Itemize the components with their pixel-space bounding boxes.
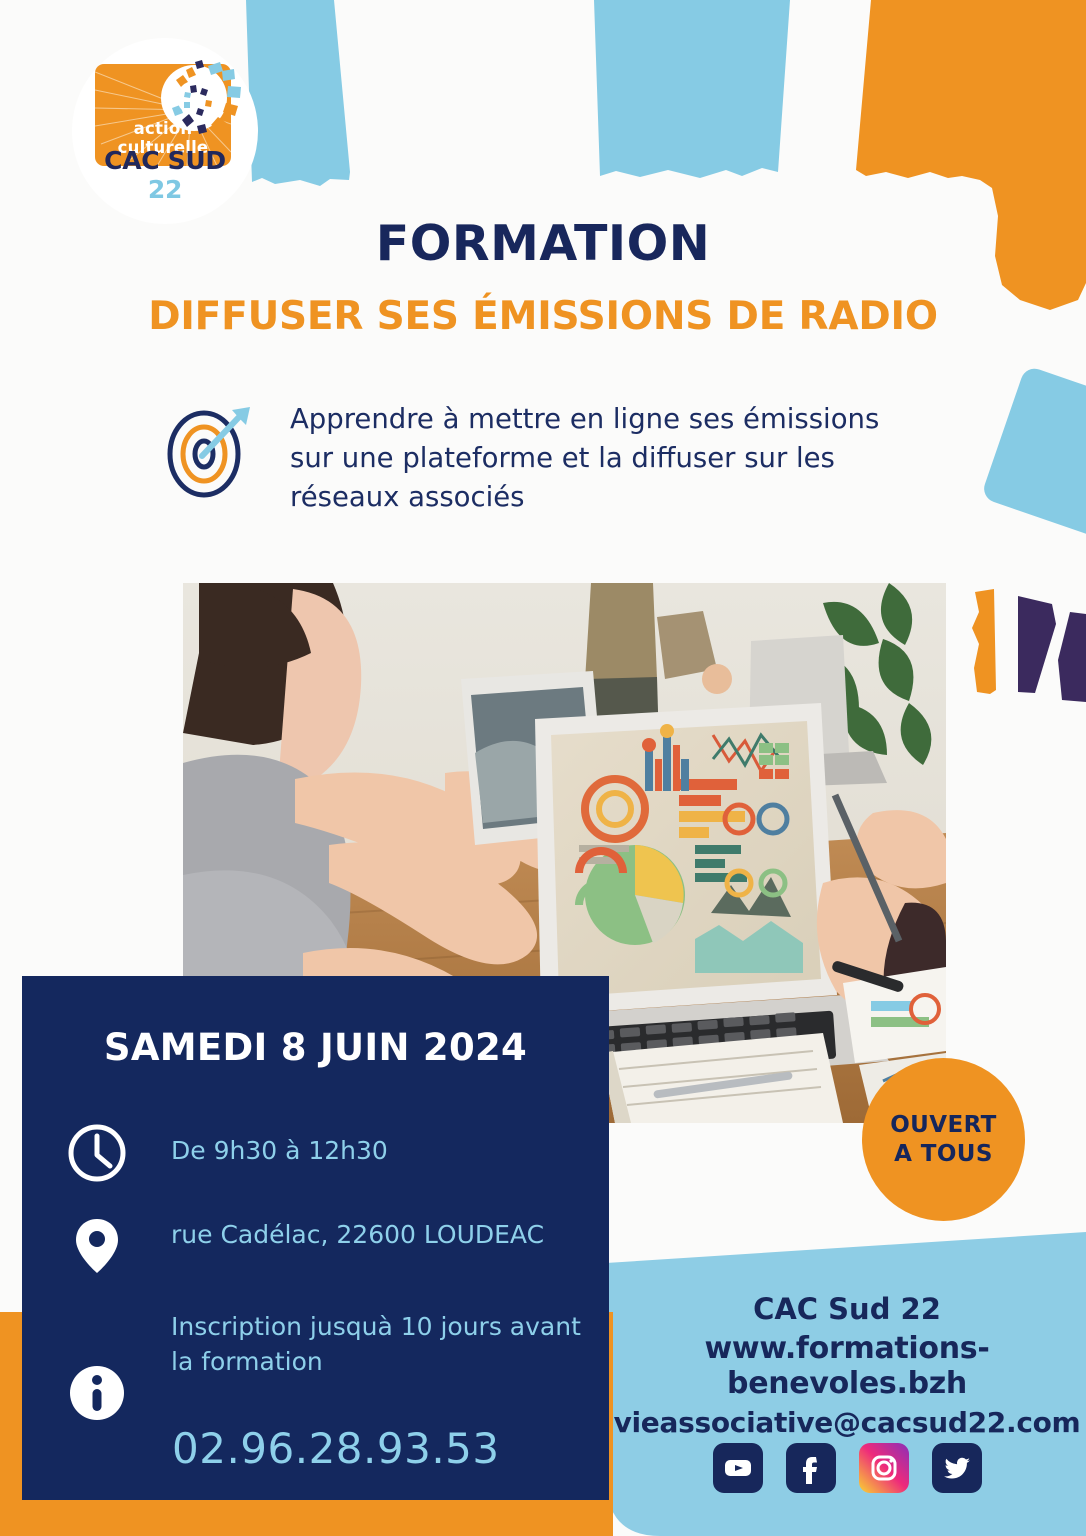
contact-org: CAC Sud 22: [612, 1292, 1082, 1326]
info-icon: [66, 1362, 128, 1424]
social-links: [612, 1443, 1082, 1493]
logo-name: CAC SUD 22: [90, 146, 240, 204]
facebook-icon[interactable]: [786, 1443, 836, 1493]
deco-blue-stroke-left: [246, 0, 350, 186]
target-arrow-icon: [160, 404, 256, 500]
logo: action culturelle: [72, 38, 258, 224]
detail-row-place: rue Cadélac, 22600 LOUDEAC: [66, 1215, 544, 1277]
map-pin-icon: [66, 1215, 128, 1277]
logo-sun-icon: [150, 50, 242, 142]
deco-blue-stroke-center: [594, 0, 790, 178]
twitter-icon[interactable]: [932, 1443, 982, 1493]
badge-line-1: OUVERT: [890, 1114, 997, 1137]
contact-block: CAC Sud 22 www.formations-benevoles.bzh …: [612, 1292, 1082, 1439]
deco-orange-bar-right: [972, 589, 996, 694]
logo-name-blue: 22: [148, 175, 182, 204]
objective-block: Apprendre à mettre en ligne ses émission…: [160, 398, 920, 517]
objective-text: Apprendre à mettre en ligne ses émission…: [290, 398, 920, 517]
clock-icon: [66, 1122, 128, 1184]
detail-text-place: rue Cadélac, 22600 LOUDEAC: [171, 1218, 544, 1253]
detail-text-time: De 9h30 à 12h30: [171, 1134, 388, 1169]
open-to-all-badge: OUVERT A TOUS: [862, 1058, 1025, 1221]
page-subtitle: DIFFUSER SES ÉMISSIONS DE RADIO: [0, 294, 1086, 339]
contact-website[interactable]: www.formations-benevoles.bzh: [612, 1331, 1082, 1401]
deco-purple-wedge-1: [1018, 596, 1056, 693]
event-date: SAMEDI 8 JUIN 2024: [22, 1026, 609, 1069]
detail-row-time: De 9h30 à 12h30: [66, 1122, 388, 1184]
deco-purple-wedge-2: [1058, 612, 1086, 702]
poster-canvas: action culturelle: [0, 0, 1086, 1536]
contact-email[interactable]: vieassociative@cacsud22.com: [612, 1406, 1082, 1439]
logo-inner: action culturelle: [90, 56, 240, 206]
detail-text-info: Inscription jusquà 10 jours avant la for…: [171, 1310, 586, 1379]
badge-line-2: A TOUS: [894, 1143, 993, 1166]
deco-blue-square-right: [980, 365, 1086, 546]
phone-number[interactable]: 02.96.28.93.53: [172, 1424, 500, 1473]
youtube-icon[interactable]: [713, 1443, 763, 1493]
instagram-icon[interactable]: [859, 1443, 909, 1493]
detail-row-info: Inscription jusquà 10 jours avant la for…: [66, 1310, 586, 1424]
logo-name-navy: CAC SUD: [104, 146, 226, 175]
